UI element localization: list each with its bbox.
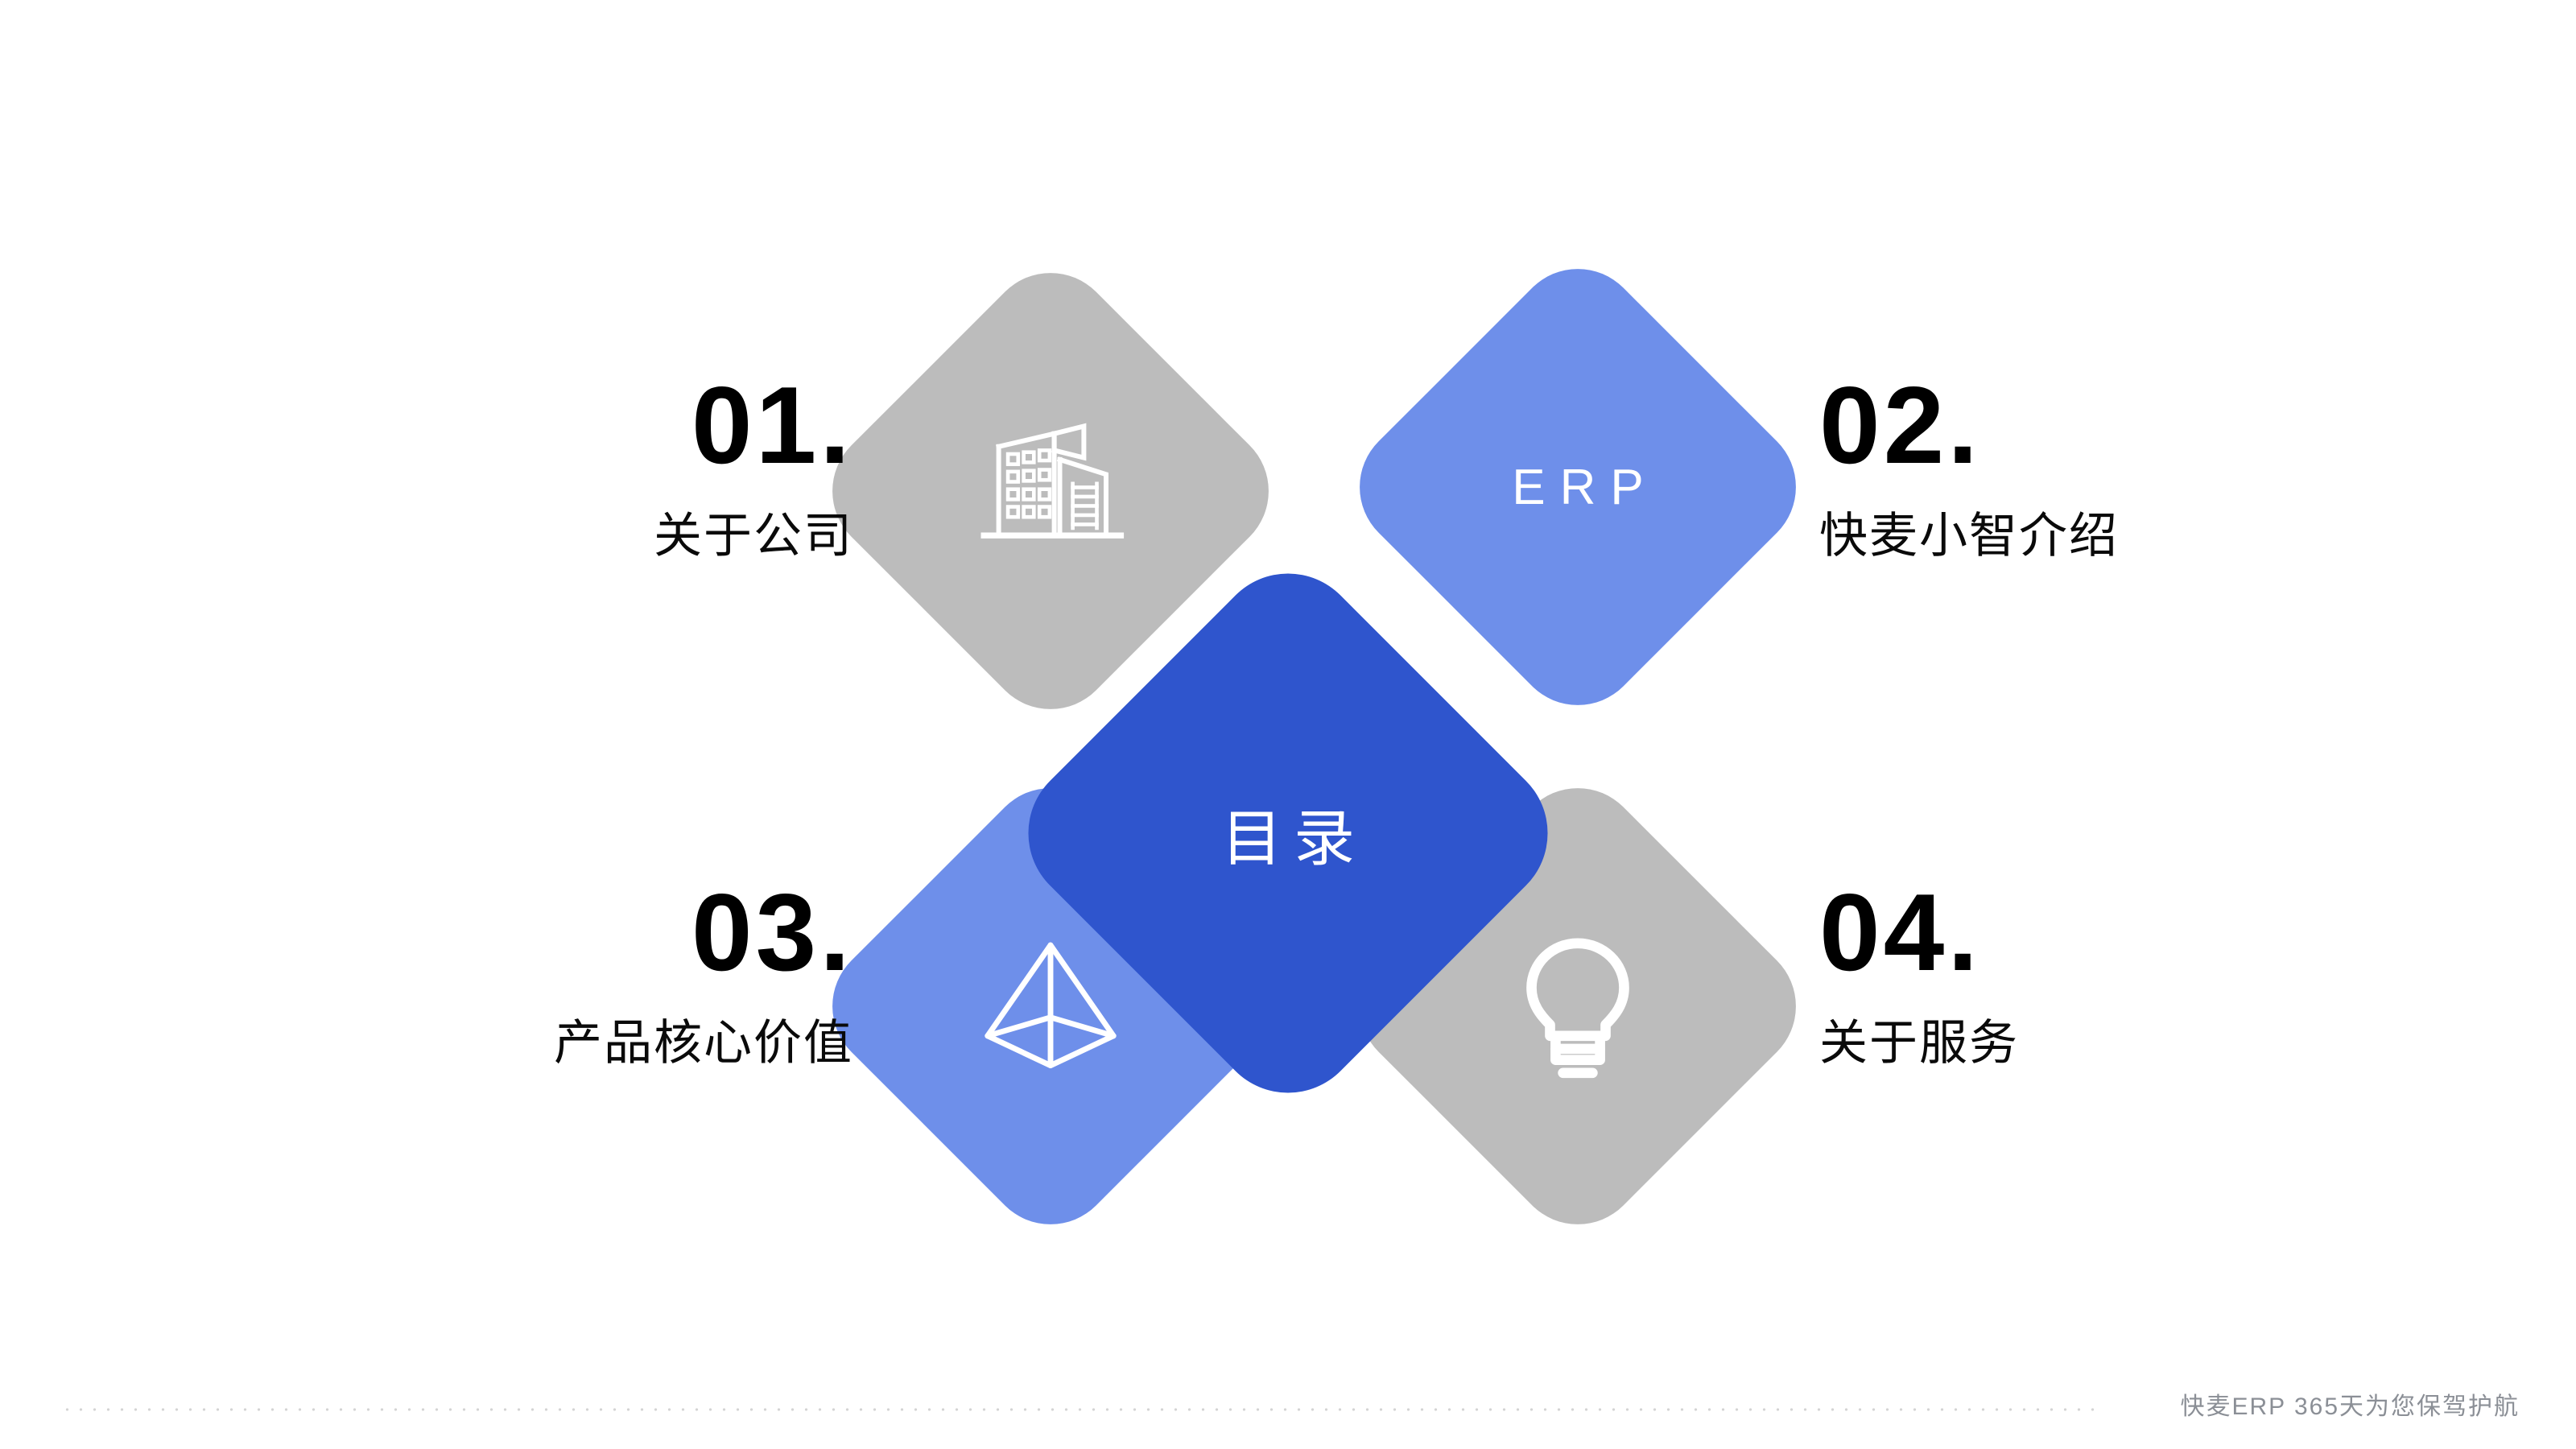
footer-dotted-rule [60,1408,2097,1411]
item-title-02: 快麦小智介绍 [1819,512,2334,560]
item-number-03: 03. [338,877,853,987]
item-title-01: 关于公司 [338,512,853,560]
item-title-03: 产品核心价值 [338,1019,853,1067]
item-title-04: 关于服务 [1819,1019,2334,1067]
center-label: 目录 [1210,789,1366,877]
item-number-04: 04. [1819,877,2334,987]
footer-tagline: 快麦ERP 365天为您保驾护航 [2180,1386,2520,1422]
item-text-04[interactable]: 04. 关于服务 [1819,877,2334,1067]
diamond-inner-02: ERP [1405,314,1751,660]
slide-canvas: 目录 [0,0,2576,1449]
item-text-01[interactable]: 01. 关于公司 [338,370,853,560]
item-text-03[interactable]: 03. 产品核心价值 [338,877,853,1067]
lightbulb-icon [1485,914,1670,1099]
item-number-02: 02. [1819,370,2334,480]
item-number-01: 01. [338,370,853,480]
center-diamond-inner: 目录 [1083,628,1493,1038]
diamond-inner-01 [877,318,1224,664]
erp-badge-label: ERP [1497,459,1657,516]
center-diamond-toc[interactable]: 目录 [997,543,1578,1123]
item-text-02[interactable]: 02. 快麦小智介绍 [1819,370,2334,560]
office-building-icon [958,398,1143,584]
